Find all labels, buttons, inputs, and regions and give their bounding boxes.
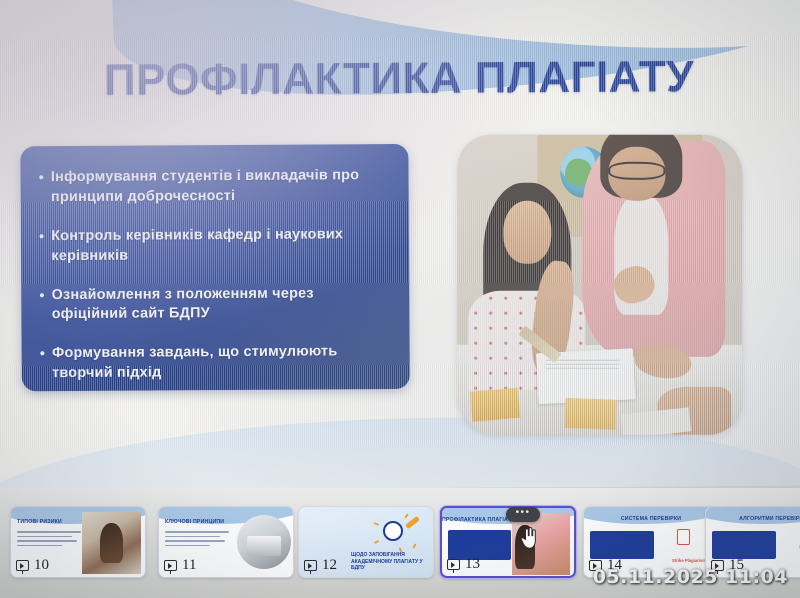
bullet-text: Контроль керівників кафедр і наукових ке…: [51, 225, 387, 267]
bullet-text: Інформування студентів і викладачів про …: [51, 166, 387, 208]
slide-show-icon: [304, 560, 317, 571]
thumb-footer: 13: [447, 556, 480, 573]
slide-photo: [457, 135, 742, 435]
thumb-body-panel: [590, 531, 654, 559]
thumb-number: 10: [34, 557, 49, 574]
thumbnail-options-badge[interactable]: •••: [506, 507, 540, 522]
bullet-panel: • Інформування студентів і викладачів пр…: [20, 144, 409, 391]
camera-timestamp: 05.11.2025 11:04: [593, 566, 788, 588]
thumb-title: ПРОФІЛАКТИКА ПЛАГІАТУ: [442, 517, 515, 524]
slide-show-icon: [164, 560, 177, 571]
thumb-image: [237, 515, 291, 569]
thumb-title: ТИПОВІ РИЗИКИ: [17, 519, 83, 526]
slide-thumbnail-12[interactable]: ЩОДО ЗАПОБІГАННЯ АКАДЕМІЧНОМУ ПЛАГІАТУ У…: [298, 506, 434, 578]
thumb-subtext: ЩОДО ЗАПОБІГАННЯ АКАДЕМІЧНОМУ ПЛАГІАТУ У…: [351, 552, 433, 571]
thumb-footer: 11: [164, 557, 196, 574]
document-icon: [677, 529, 690, 545]
presentation-slide[interactable]: ПРОФІЛАКТИКА ПЛАГІАТУ • Інформування сту…: [0, 0, 800, 490]
thumb-image: [82, 512, 141, 574]
slide-thumbnail-10[interactable]: ТИПОВІ РИЗИКИ 10: [10, 506, 146, 578]
bullet-dot-icon: •: [40, 344, 45, 364]
thumb-footer: 10: [16, 557, 49, 574]
bullet-dot-icon: •: [39, 286, 44, 306]
thumb-footer: 12: [304, 557, 337, 574]
list-item: • Контроль керівників кафедр і наукових …: [39, 225, 387, 267]
list-item: • Інформування студентів і викладачів пр…: [39, 166, 387, 208]
list-item: • Формування завдань, що стимулюють твор…: [40, 342, 388, 384]
thumb-body-lines: [17, 531, 81, 559]
magnifier-handle-icon: [405, 516, 420, 529]
page-title: ПРОФІЛАКТИКА ПЛАГІАТУ: [0, 52, 800, 107]
doc-caption: Strike Plagiarism: [672, 558, 706, 563]
thumb-number: 11: [182, 557, 196, 574]
thumb-title: АЛГОРИТМИ ПЕРЕВІРКИ: [706, 516, 800, 523]
slide-show-icon: [16, 560, 29, 571]
thumb-body-lines: [165, 531, 229, 559]
thumb-title: КЛЮЧОВІ ПРИНЦИПИ: [165, 519, 231, 526]
thumb-number: 13: [465, 556, 480, 573]
bullet-text: Ознайомлення з положенням через офіційни…: [52, 284, 388, 326]
thumb-body-panel: [712, 531, 776, 559]
bullet-text: Формування завдань, що стимулюють творчи…: [52, 342, 388, 384]
list-item: • Ознайомлення з положенням через офіцій…: [39, 284, 387, 326]
hand-pointer-cursor: [520, 527, 537, 549]
photographed-screen: ПРОФІЛАКТИКА ПЛАГІАТУ • Інформування сту…: [0, 0, 800, 598]
thumb-number: 12: [322, 557, 337, 574]
magnifier-icon: [383, 521, 403, 541]
thumb-title: СИСТЕМА ПЕРЕВІРКИ: [584, 516, 718, 523]
slide-thumbnail-11[interactable]: КЛЮЧОВІ ПРИНЦИПИ 11: [158, 506, 294, 578]
slide-show-icon: [447, 559, 460, 570]
bullet-dot-icon: •: [39, 227, 44, 247]
bullet-dot-icon: •: [39, 168, 44, 188]
